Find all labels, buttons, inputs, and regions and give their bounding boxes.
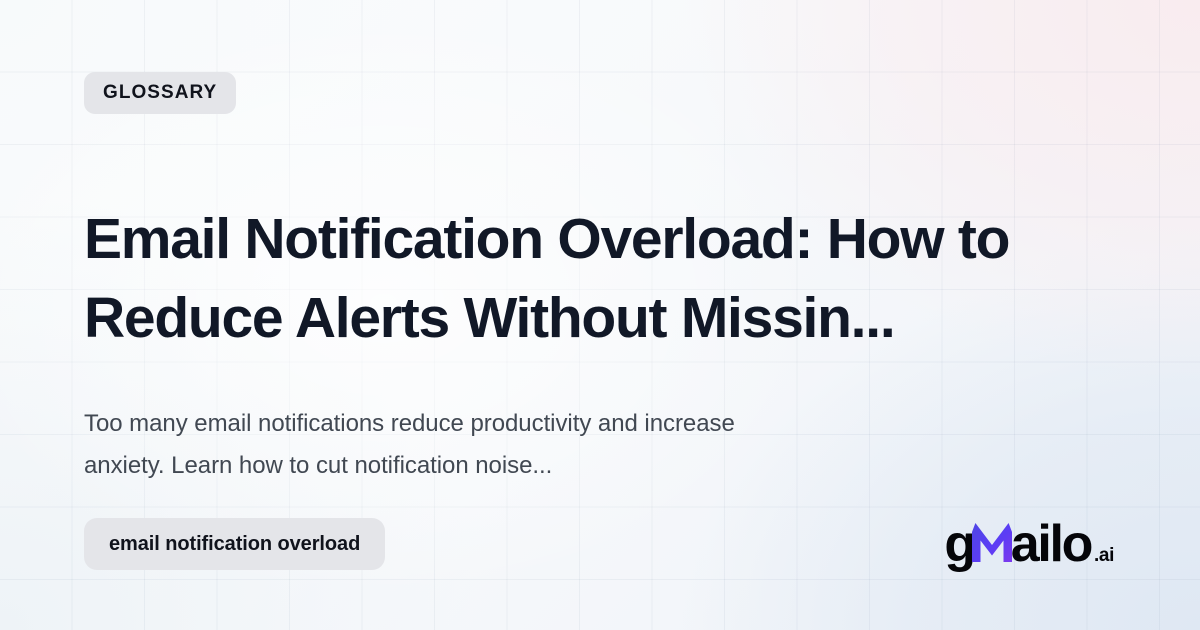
logo-text-after: ailo [1011, 518, 1091, 570]
page-title: Email Notification Overload: How to Redu… [84, 200, 1044, 357]
logo-domain-suffix: .ai [1094, 545, 1114, 567]
page-subtitle: Too many email notifications reduce prod… [84, 403, 814, 486]
gmailo-logo: g ailo [944, 518, 1114, 570]
keyword-tag: email notification overload [84, 518, 385, 570]
card-footer: email notification overload g [84, 518, 1116, 570]
category-badge: GLOSSARY [84, 72, 236, 114]
card-content: GLOSSARY Email Notification Overload: Ho… [0, 0, 1200, 630]
og-card: GLOSSARY Email Notification Overload: Ho… [0, 0, 1200, 630]
logo-m-icon [972, 519, 1012, 558]
logo-text-before: g [944, 518, 973, 570]
logo-wordmark: g ailo [944, 518, 1091, 570]
